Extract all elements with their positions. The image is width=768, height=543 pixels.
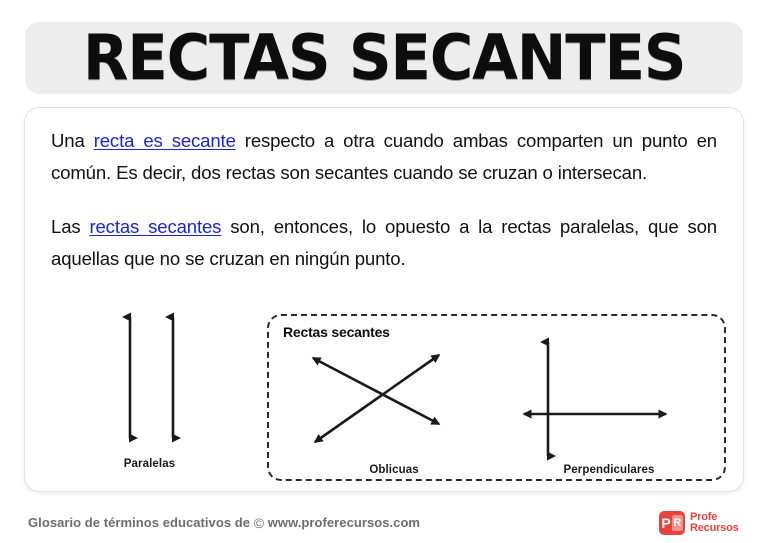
rectas-secantes-box-title: Rectas secantes: [283, 324, 390, 340]
figure-oblicuas: Oblicuas: [299, 346, 489, 481]
infographic-page: RECTAS SECANTES Una recta es secante res…: [0, 0, 768, 543]
paralelas-arrows-graphic: [62, 306, 237, 456]
footer-credit: Glosario de términos educativos de © www…: [28, 514, 420, 530]
footer: Glosario de términos educativos de © www…: [0, 500, 768, 543]
rectas-secantes-box: Rectas secantes: [267, 314, 726, 481]
figure-perpendiculares: Perpendiculares: [509, 334, 709, 481]
figure-label-perpendiculares: Perpendiculares: [509, 464, 709, 476]
logo-mark-icon: P R: [659, 511, 685, 535]
logo-letter-p: P: [661, 516, 670, 530]
footer-credit-text: Glosario de términos educativos de: [28, 515, 250, 530]
page-title: RECTAS SECANTES: [83, 27, 686, 89]
logo-letter-r: R: [673, 518, 681, 529]
logo-wordmark: Profe Recursos: [690, 512, 739, 534]
paragraph-2: Las rectas secantes son, entonces, lo op…: [51, 211, 717, 275]
paragraph-1: Una recta es secante respecto a otra cua…: [51, 125, 717, 189]
diagram-area: Paralelas Rectas secantes: [25, 306, 743, 491]
logo-letter-r-box: R: [672, 515, 683, 531]
perpendiculares-arrows-graphic: [509, 334, 709, 464]
footer-site-url: www.proferecursos.com: [268, 515, 420, 530]
title-card: RECTAS SECANTES: [25, 22, 743, 94]
paragraph-2-segment-1: Las: [51, 216, 89, 237]
logo-word-recursos: Recursos: [690, 523, 739, 534]
oblicuas-arrows-graphic: [299, 346, 489, 461]
content-card: Una recta es secante respecto a otra cua…: [25, 108, 743, 491]
copyright-icon: ©: [254, 515, 264, 531]
figure-paralelas: Paralelas: [62, 306, 237, 481]
proferecursos-logo[interactable]: P R Profe Recursos: [659, 511, 739, 535]
link-rectas-secantes[interactable]: rectas secantes: [89, 216, 221, 237]
paragraph-1-segment-1: Una: [51, 130, 94, 151]
figure-label-oblicuas: Oblicuas: [299, 464, 489, 476]
link-recta-es-secante[interactable]: recta es secante: [94, 130, 236, 151]
figure-label-paralelas: Paralelas: [62, 458, 237, 470]
paragraph-block: Una recta es secante respecto a otra cua…: [51, 125, 717, 275]
